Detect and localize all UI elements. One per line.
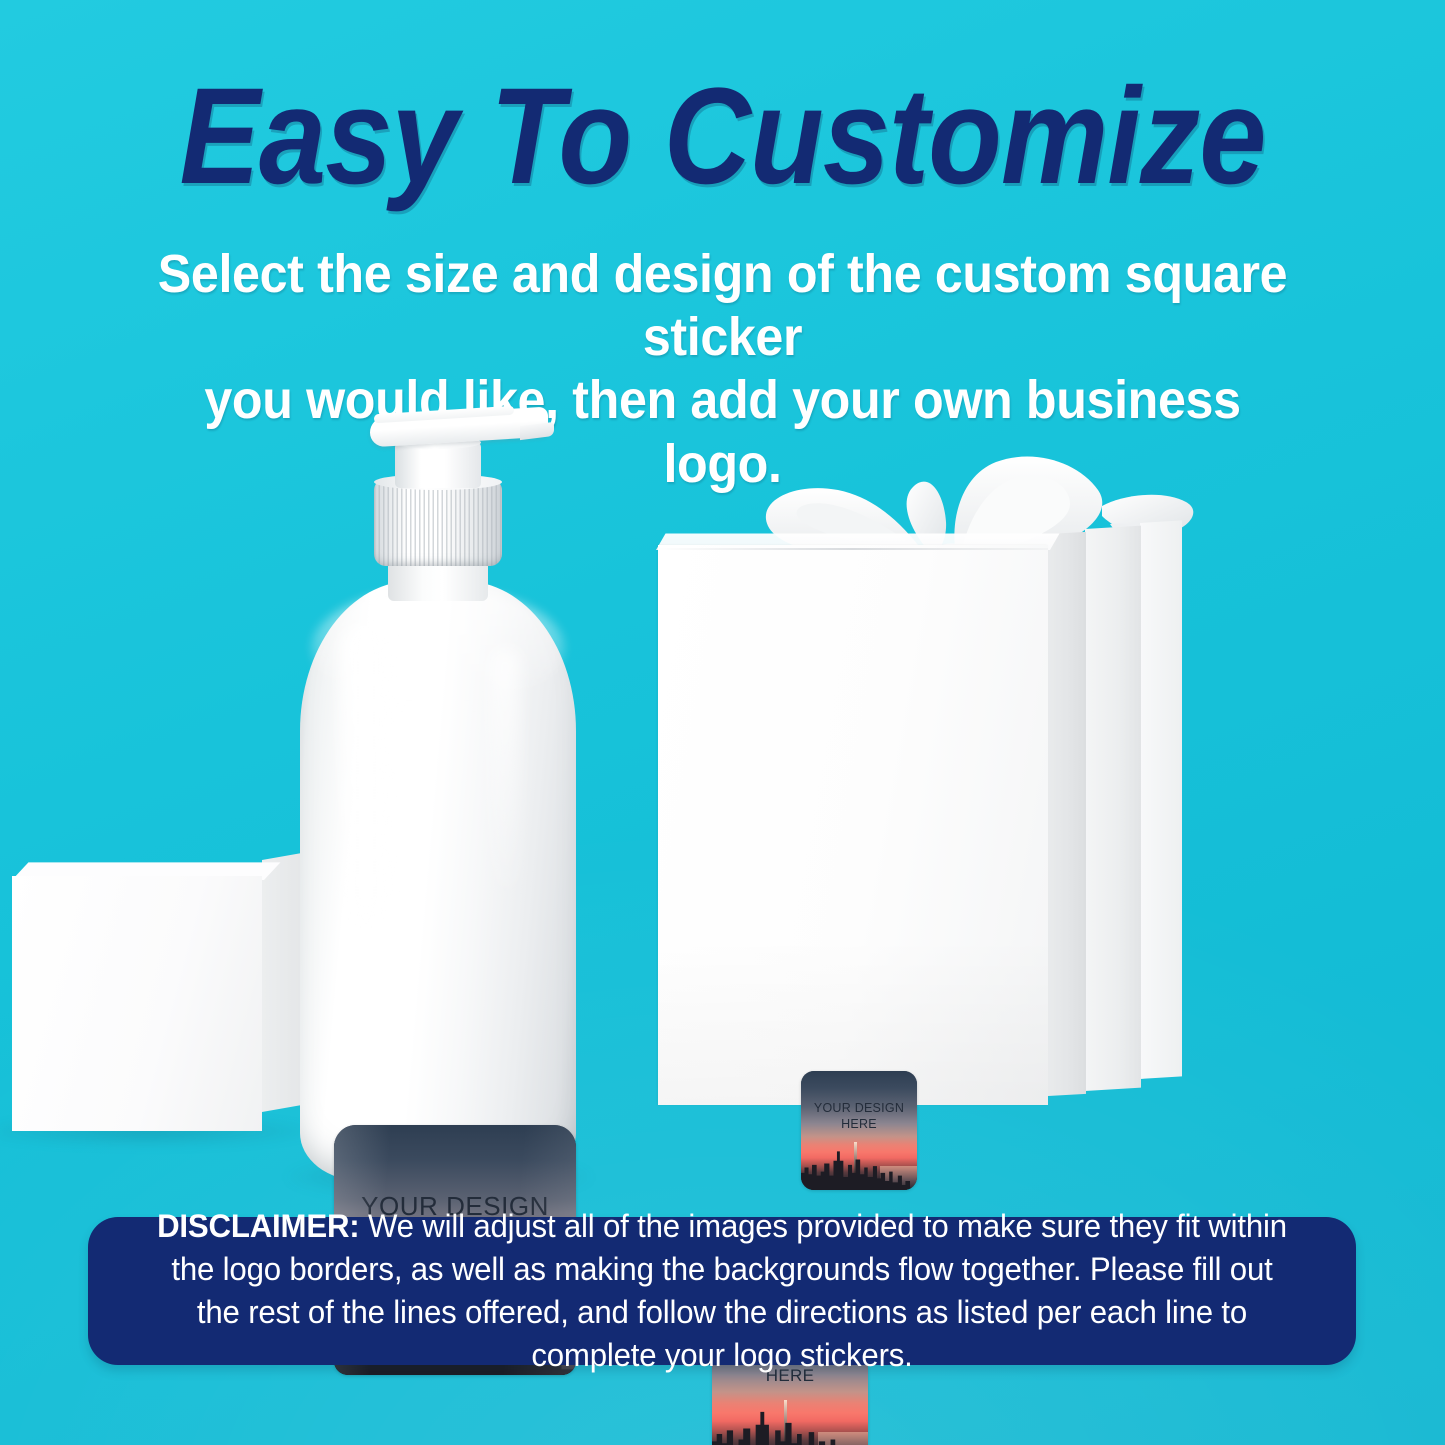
sticker-city-skyline	[801, 1150, 917, 1190]
product-scene: YOUR DESIGN HERE YOUR DESIGN HERE	[0, 380, 1445, 1210]
sticker-placeholder-text: YOUR DESIGN HERE	[801, 1100, 917, 1132]
bottle-pump-nozzle-tip	[520, 422, 554, 440]
small-box-front-panel	[12, 876, 262, 1131]
disclaimer-banner: DISCLAIMER: We will adjust all of the im…	[88, 1217, 1356, 1365]
subtitle-line-1: Select the size and design of the custom…	[144, 243, 1302, 369]
sticker-text-line-1: YOUR DESIGN	[801, 1100, 917, 1116]
sticker-text-line-2: HERE	[801, 1116, 917, 1132]
bottle-pump-collar	[374, 480, 502, 566]
sticker-city-skyline	[712, 1410, 868, 1445]
gift-box-side-panel-3	[1140, 520, 1182, 1079]
page-title: Easy To Customize	[87, 68, 1359, 205]
disclaimer-label: DISCLAIMER:	[157, 1208, 359, 1244]
gift-box-lid-seam	[658, 548, 1048, 550]
gift-box-front-panel	[658, 545, 1048, 1105]
bottle-gloss-highlight-left	[340, 624, 392, 924]
disclaimer-text: DISCLAIMER: We will adjust all of the im…	[113, 1205, 1330, 1378]
small-box-mockup	[12, 858, 322, 1148]
bottle-gloss-highlight-right	[490, 648, 520, 898]
gift-box-side-panel-2	[1085, 526, 1141, 1091]
pump-bottle-mockup	[278, 398, 598, 1198]
sticker-preview-gift-box[interactable]: YOUR DESIGN HERE	[801, 1071, 917, 1190]
gift-box-side-panel-1	[1048, 532, 1086, 1096]
promo-banner: Easy To Customize Select the size and de…	[0, 0, 1445, 1445]
gift-box-mockup	[658, 460, 1218, 1125]
